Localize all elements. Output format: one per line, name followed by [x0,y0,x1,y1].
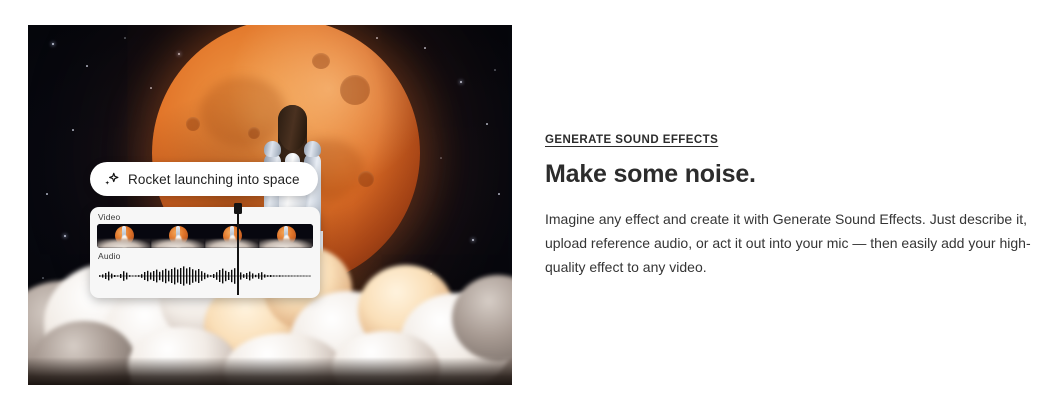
body-paragraph: Imagine any effect and create it with Ge… [545,207,1037,279]
audio-waveform[interactable] [97,263,313,289]
video-thumbnail[interactable] [97,224,151,248]
prompt-pill[interactable]: Rocket launching into space [90,162,318,196]
copy-column: GENERATE SOUND EFFECTS Make some noise. … [545,130,1037,279]
promo-section: Rocket launching into space Video Audio [0,0,1054,419]
playhead-handle[interactable] [234,203,242,214]
video-track-strip[interactable] [97,224,313,248]
sparkle-icon [104,172,119,187]
eyebrow-label[interactable]: GENERATE SOUND EFFECTS [545,134,718,146]
audio-track-label: Audio [98,251,121,261]
video-thumbnail[interactable] [259,224,313,248]
video-thumbnail[interactable] [205,224,259,248]
timeline-panel[interactable]: Video Audio [90,207,320,298]
playhead[interactable] [237,203,239,295]
page-title: Make some noise. [545,160,1037,189]
prompt-pill-text: Rocket launching into space [128,172,300,187]
video-thumbnail[interactable] [151,224,205,248]
waveform-svg [97,263,313,289]
rocket-launch-moon-image: Rocket launching into space Video Audio [28,25,512,385]
video-track-label: Video [98,212,120,222]
